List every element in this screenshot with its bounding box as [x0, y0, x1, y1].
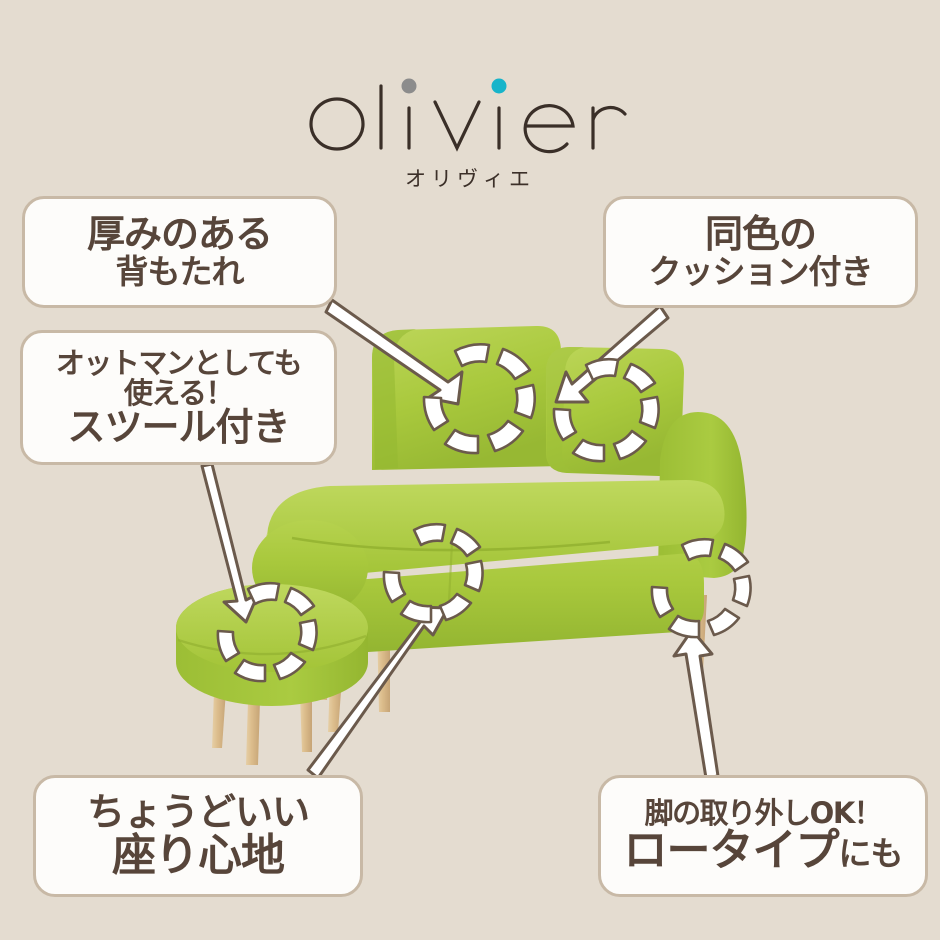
callout-legs-line2-suffix: にも	[839, 837, 903, 871]
logo-lettering	[305, 58, 635, 154]
brand-logo: オリヴィエ	[0, 58, 940, 193]
callout-stool-line2: 使える！	[124, 378, 233, 408]
callout-stool-line1: オットマンとしても	[56, 348, 301, 378]
infographic-canvas: オリヴィエ	[0, 0, 940, 940]
callout-legs-line1: 脚の取り外しOK！	[645, 798, 882, 828]
logo-dot-gray	[402, 79, 417, 94]
callout-backrest-line2: 背もたれ	[116, 255, 244, 289]
callout-cushion-line2: クッション付き	[649, 255, 873, 289]
backrest-cushion	[372, 326, 564, 470]
callout-legs-line2: ロータイプ にも	[624, 828, 903, 874]
stool	[176, 584, 368, 765]
callout-stool[interactable]: オットマンとしても 使える！ スツール付き	[20, 330, 337, 465]
callout-seat-line2: 座り心地	[112, 833, 284, 879]
callout-legs-line2-main: ロータイプ	[624, 828, 839, 874]
logo-wordmark	[305, 58, 635, 154]
callout-cushion[interactable]: 同色の クッション付き	[603, 196, 918, 308]
logo-subtitle: オリヴィエ	[0, 163, 940, 193]
callout-legs[interactable]: 脚の取り外しOK！ ロータイプ にも	[598, 775, 928, 897]
callout-seat-line1: ちょうどいい	[87, 793, 309, 833]
callout-stool-line3: スツール付き	[67, 408, 289, 448]
callout-backrest[interactable]: 厚みのある 背もたれ	[22, 196, 337, 308]
callout-backrest-line1: 厚みのある	[87, 215, 272, 255]
logo-dot-cyan	[492, 79, 507, 94]
callout-cushion-line1: 同色の	[705, 215, 816, 255]
callout-seat[interactable]: ちょうどいい 座り心地	[33, 775, 363, 897]
